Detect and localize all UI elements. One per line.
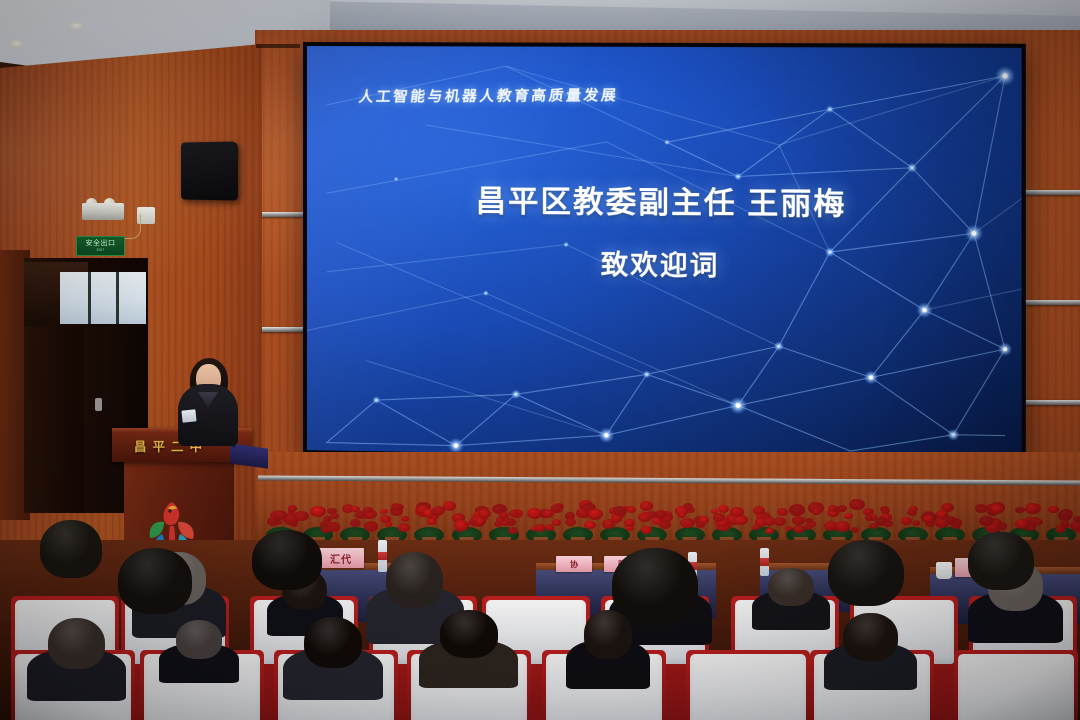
poinsettia-bloom — [789, 504, 805, 515]
audience-member-head — [118, 548, 192, 614]
emergency-light-unit — [82, 203, 124, 220]
poinsettia-bloom — [696, 522, 705, 528]
door-transom-window — [60, 272, 146, 324]
poinsettia-bloom — [380, 509, 387, 514]
poinsettia-bloom — [1048, 506, 1058, 514]
audience-member-head — [828, 540, 904, 606]
wall-trim-strip — [262, 327, 304, 332]
poinsettia-bloom — [913, 520, 921, 526]
poinsettia-bloom — [638, 512, 652, 522]
poinsettia-bloom — [641, 526, 652, 534]
poinsettia-bloom — [1073, 516, 1080, 522]
poinsettia-bloom — [427, 518, 437, 525]
exit-sign-label-en: EXIT — [97, 248, 105, 252]
poinsettia-bloom — [792, 516, 805, 525]
window-mullion — [88, 272, 91, 324]
ceiling-light — [10, 40, 23, 47]
podium: 昌平二中 — [112, 428, 252, 558]
poinsettia-bloom — [901, 517, 912, 525]
wall-speaker — [181, 141, 238, 200]
poinsettia-bloom — [535, 524, 545, 531]
poinsettia-bloom — [509, 510, 519, 517]
poinsettia-bloom — [499, 512, 509, 519]
poinsettia-bloom — [508, 527, 518, 534]
poinsettia-bloom — [881, 508, 890, 514]
window-mullion — [116, 272, 119, 324]
poinsettia-bloom — [1035, 519, 1043, 525]
audience-member-head — [176, 620, 222, 659]
poinsettia-bloom — [584, 521, 596, 530]
poinsettia-bloom — [545, 524, 554, 531]
bottle-label — [760, 558, 769, 566]
wall-shadow-line — [256, 44, 300, 48]
poinsettia-bloom — [363, 507, 372, 514]
poinsettia-bloom — [310, 506, 326, 517]
poinsettia-bloom — [1059, 509, 1073, 519]
screen-content: 人工智能与机器人教育高质量发展 昌平区教委副主任 王丽梅 致欢迎词 — [307, 46, 1022, 462]
poinsettia-bloom — [752, 525, 760, 531]
poinsettia-bloom — [475, 518, 485, 525]
water-bottle — [378, 540, 387, 572]
poinsettia-bloom — [398, 523, 410, 531]
podium-notes-surface — [230, 443, 268, 468]
poinsettia-bloom — [655, 510, 667, 519]
name-placard: 汇代 — [318, 548, 364, 568]
poinsettia-bloom — [613, 506, 627, 516]
speaker-badge — [181, 409, 196, 422]
poinsettia-bloom — [793, 525, 804, 533]
poinsettia-bloom — [679, 512, 687, 518]
poinsettia-bloom — [350, 519, 361, 527]
exit-sign: 安全出口 EXIT — [76, 236, 125, 256]
audience-member-head — [768, 568, 814, 606]
poinsettia-bloom — [468, 520, 475, 525]
poinsettia-bloom — [565, 518, 576, 526]
screen-title-text: 昌平区教委副主任 王丽梅 — [307, 175, 1022, 225]
poinsettia-bloom — [730, 507, 744, 517]
poinsettia-bloom — [935, 518, 949, 528]
poinsettia-bloom — [718, 505, 729, 513]
poinsettia-bloom — [1015, 507, 1024, 514]
audience-member-head — [252, 530, 322, 590]
wall-trim-strip — [262, 212, 304, 217]
poinsettia-bloom — [401, 516, 409, 522]
poinsettia-bloom — [979, 516, 993, 526]
poinsettia-bloom — [844, 513, 852, 519]
wall-cable — [122, 214, 141, 239]
poinsettia-bloom — [542, 509, 554, 518]
poinsettia-bloom — [432, 506, 445, 515]
poinsettia-bloom — [1025, 503, 1040, 514]
poinsettia-bloom — [640, 501, 654, 511]
poinsettia-bloom — [805, 518, 813, 524]
audience-member-head — [440, 610, 498, 658]
poinsettia-bloom — [975, 504, 986, 512]
audience-member-head — [304, 617, 362, 668]
exit-sign-label-cn: 安全出口 — [86, 240, 116, 248]
poinsettia-bloom — [506, 518, 516, 525]
paper-cup — [936, 562, 952, 579]
poinsettia-bloom — [875, 517, 887, 526]
poinsettia-bloom — [320, 522, 328, 528]
audience-member-head — [386, 552, 443, 609]
screen-header-text: 人工智能与机器人教育高质量发展 — [358, 84, 620, 107]
audience-member-head — [968, 532, 1034, 590]
audience-member-head — [612, 548, 698, 624]
screen-subtitle-text: 致欢迎词 — [307, 240, 1022, 287]
audience-member-head — [40, 520, 102, 578]
poinsettia-bloom — [990, 504, 1004, 514]
poinsettia-bloom — [835, 521, 850, 532]
poinsettia-bloom — [909, 506, 917, 512]
name-placard: 协 — [556, 556, 592, 572]
poinsettia-bloom — [527, 508, 542, 519]
poinsettia-bloom — [680, 518, 695, 529]
bottle-label — [378, 552, 387, 560]
door-handle[interactable] — [95, 398, 102, 411]
seat-back-cover — [958, 654, 1074, 720]
poinsettia-bloom — [273, 510, 287, 520]
ceiling-light — [70, 22, 83, 29]
auditorium-photo: 安全出口 EXIT — [0, 0, 1080, 720]
poinsettia-bloom — [454, 520, 469, 531]
water-bottle — [760, 548, 769, 576]
poinsettia-bloom — [865, 515, 873, 521]
led-display-screen[interactable]: 人工智能与机器人教育高质量发展 昌平区教委副主任 王丽梅 致欢迎词 — [303, 42, 1026, 466]
seat-back-cover — [690, 654, 806, 720]
poinsettia-bloom — [765, 528, 773, 534]
poinsettia-bloom — [936, 510, 948, 519]
audience-member-head — [48, 618, 106, 669]
poinsettia-bloom — [838, 505, 848, 512]
audience-member-head — [843, 613, 897, 661]
poinsettia-bloom — [785, 526, 792, 531]
